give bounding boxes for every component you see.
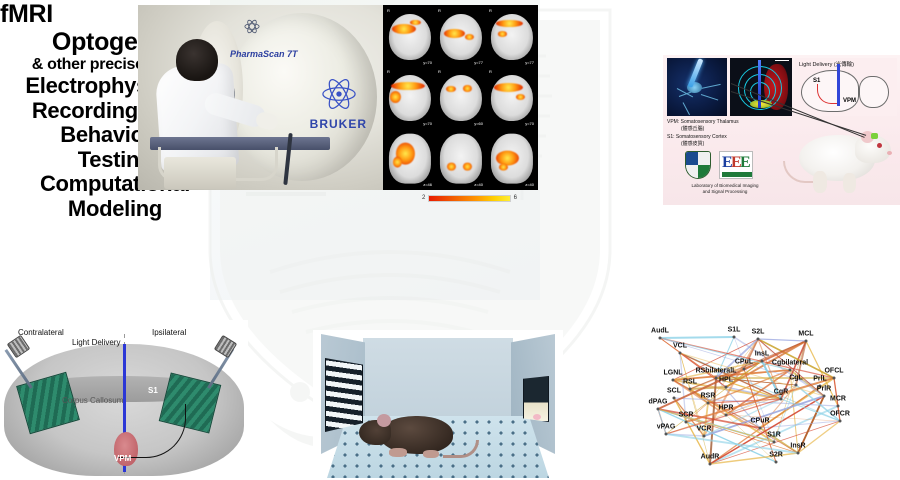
network-node-marker [759,427,762,430]
brain-slice-cell: R y=70 [385,68,434,127]
optic-implant [871,133,878,139]
network-node-label: dPAG [649,399,668,406]
network-node-marker [757,338,760,341]
network-node-marker [665,433,668,436]
hku-crest-logo [685,151,711,179]
network-node-label: MCL [798,331,813,338]
network-node-label: PrlL [813,376,827,383]
slice-tag: z=40 [525,182,534,187]
ipsilateral-label: Ipsilateral [152,328,186,337]
network-node-label: CPuR [750,418,769,425]
network-node-marker [672,379,675,382]
network-node-marker [775,461,778,464]
optogenetics-figure-panel: Light Delivery (光傳輸) S1 VPM VPM: Somatos… [663,55,900,205]
network-node-marker [761,360,764,363]
network-node-marker [833,377,836,380]
network-node-marker [715,377,718,380]
network-node-label: S1L [728,327,741,334]
corpus-callosum-label: Corpus Callosum [62,396,123,405]
slice-tag: y=70 [423,121,432,126]
orientation-marker: R [489,8,492,13]
scanner-brand-label: BRUKER [310,117,367,131]
connectivity-network-graph: AudLVCLS1LS2LMCLInsLCPuLCgbilateralRSbil… [638,322,896,478]
network-node-marker [733,336,736,339]
colorbar-max-label: 6 [514,195,517,201]
brain-slice-image [490,74,532,120]
scale-bar [775,60,789,61]
reward-port-indicator [533,414,541,420]
network-node-label: HPR [719,405,734,412]
network-node-label: SCR [679,412,694,419]
slice-tag: y=60 [474,121,483,126]
slice-tag: z=40 [474,182,483,187]
network-node-marker [797,452,800,455]
network-node-label: S1R [767,432,781,439]
network-node-marker [673,397,676,400]
neuron-fluorescence-image [667,58,727,116]
mri-scanner-photo: PharmaScan 7T BRUKER [138,5,383,190]
brain-slice-image [490,133,532,184]
light-delivery-label: Light Delivery [72,338,120,347]
legend-vpm-cn: (體感丘腦) [667,126,739,133]
optogenetics-legend: VPM: Somatosensory Thalamus (體感丘腦) S1: S… [667,119,739,148]
network-node-label: S2R [769,452,783,459]
eee-department-logo: E E E [719,151,753,179]
network-node-marker [707,402,710,405]
network-node-label: HPL [719,377,733,384]
slice-tag: y=77 [525,60,534,65]
light-delivery-label: Light Delivery (光傳輸) [799,60,854,68]
network-node-label: VCR [697,426,712,433]
orientation-marker: R [438,69,441,74]
brain-slice-cell: z=40 [487,129,536,188]
network-node-label: vPAG [657,424,676,431]
network-node-marker [659,337,662,340]
network-node-marker [789,369,792,372]
slice-tag: y=77 [474,60,483,65]
orientation-marker: R [438,8,441,13]
network-node-label: PrlR [817,386,831,393]
network-node-marker [795,384,798,387]
slice-tag: y=70 [525,121,534,126]
network-node-marker [780,398,783,401]
network-node-label: RSR [701,393,716,400]
s1-label: S1 [813,78,820,84]
optic-fiber-line [837,64,840,106]
brain-slice-cell: R y=70 [487,68,536,127]
brain-slice-cell: z=46 [385,129,434,188]
brain-slice-cell: R y=77 [436,7,485,66]
grating-stimulus-panel [325,358,363,432]
vpm-label: VPM [114,454,131,463]
network-node-label: InsL [755,351,769,358]
brain-slice-image [388,13,430,59]
network-node-label: CPuL [735,359,753,366]
fmri-activation-map-grid: R y=70 R y=77 R y=77 R y=70 R y=60 [383,5,538,190]
lab-caption: Laboratory of Biomedical Imaging and Sig… [665,183,785,195]
lab-caption-line2: and Signal Processing [665,189,785,195]
network-node-label: RSbilateralL [696,368,737,375]
brain-slice-image [490,13,532,59]
network-node-marker [839,420,842,423]
brain-slice-image [439,74,481,120]
network-node-marker [837,405,840,408]
network-node-label: CgR [774,389,788,396]
orientation-marker: R [387,8,390,13]
arena-back-wall [363,338,513,420]
network-node-label: Cgbilateral [772,360,808,367]
network-node-marker [743,368,746,371]
network-node-label: S2L [752,329,765,336]
computational-title-line2: Modeling [0,197,230,222]
slice-tag: z=46 [423,182,432,187]
network-node-marker [805,340,808,343]
brain-slice-cell: R y=60 [436,68,485,127]
network-node-marker [679,352,682,355]
network-node-label: RSL [683,379,697,386]
network-node-label: VCL [673,343,687,350]
brain-slice-image [388,133,430,184]
rat-eye [877,143,882,148]
network-node-marker [773,441,776,444]
cerebellum-outline [859,76,889,108]
colorbar-min-label: 2 [422,195,425,201]
network-node-label: OFCL [824,368,843,375]
network-node-label: InsR [790,443,805,450]
network-node-label: CgL [789,375,803,382]
orientation-marker: R [489,69,492,74]
network-node-label: AudL [651,328,669,335]
network-node-marker [685,421,688,424]
vpm-label: VPM [843,98,856,104]
rat-ear [377,414,391,427]
brain-slice-cell: R y=77 [487,7,536,66]
legend-s1-abbr: S1: Somatosensory Cortex [667,134,739,141]
brain-slice-cell: R y=70 [385,7,434,66]
network-node-label: LGNL [663,370,682,377]
network-node-marker [703,435,706,438]
rat-photo [783,113,895,203]
light-delivery-diagram: Light Delivery (光傳輸) S1 VPM [795,58,897,116]
network-node-marker [657,408,660,411]
behavioral-arena-photo [313,330,563,480]
network-node-label: OFCR [830,411,850,418]
network-node-label: AudR [701,454,720,461]
probe-connector-right [214,335,237,358]
network-node-marker [709,463,712,466]
network-node-label: SCL [667,388,681,395]
network-node-marker [823,395,826,398]
activation-colorbar: 2 6 [422,192,517,204]
fmri-section-title: fMRI [0,0,130,28]
orientation-marker: R [387,69,390,74]
brain-slice-image [439,13,481,59]
contralateral-label: Contralateral [18,328,64,337]
s1-label: S1 [148,386,158,395]
rat-nose [887,151,892,155]
equipment-cart [164,157,236,189]
network-node-marker [725,414,728,417]
network-node-marker [689,388,692,391]
brain-slice-cell: z=40 [436,129,485,188]
slice-tag: y=70 [423,60,432,65]
institution-logos: E E E [685,151,763,183]
brain-slice-image [439,133,481,184]
electrophysiology-diagram: Contralateral Ipsilateral Light Delivery… [0,320,248,478]
brain-slice-image [388,74,430,120]
researcher-hair [176,39,218,81]
colorbar-gradient [428,195,510,202]
network-node-marker [725,386,728,389]
bruker-atom-logo [321,77,357,111]
legend-s1-cn: (體感皮質) [667,141,739,148]
network-node-label: MCR [830,396,846,403]
